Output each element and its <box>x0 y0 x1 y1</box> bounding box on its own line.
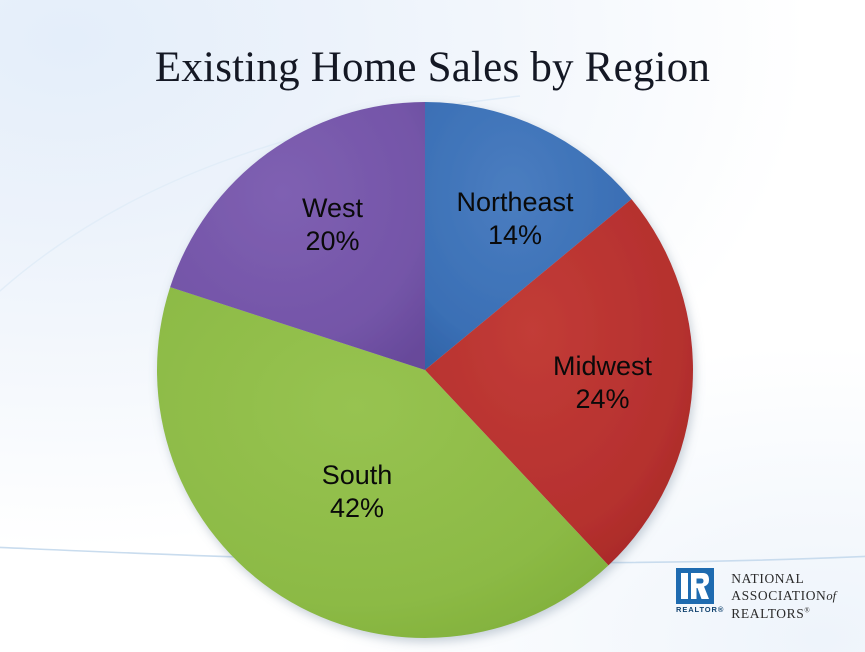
registered-trademark-icon: ® <box>804 606 809 614</box>
nar-logo: REALTOR® NATIONAL ASSOCIATIONof REALTORS… <box>676 568 836 622</box>
nar-logo-text: NATIONAL ASSOCIATIONof REALTORS® <box>731 568 836 622</box>
nar-logo-line-2: ASSOCIATIONof <box>731 587 836 604</box>
nar-logo-line-3: REALTORS® <box>731 605 836 622</box>
nar-logo-line-3-main: REALTORS <box>731 606 804 621</box>
realtor-wordmark: REALTOR® <box>676 606 724 614</box>
pie-chart: Northeast 14% Midwest 24% South 42% West… <box>0 0 865 652</box>
nar-logo-line-2-main: ASSOCIATION <box>731 588 826 603</box>
pie-slice-group <box>157 102 693 638</box>
pie-chart-svg <box>155 100 695 640</box>
nar-logo-line-1: NATIONAL <box>731 570 836 587</box>
realtor-r-icon <box>676 568 714 604</box>
nar-logo-mark-block: REALTOR® <box>676 568 724 614</box>
slide-canvas: Existing Home Sales by Region <box>0 0 865 652</box>
nar-logo-line-2-of: of <box>826 589 836 603</box>
